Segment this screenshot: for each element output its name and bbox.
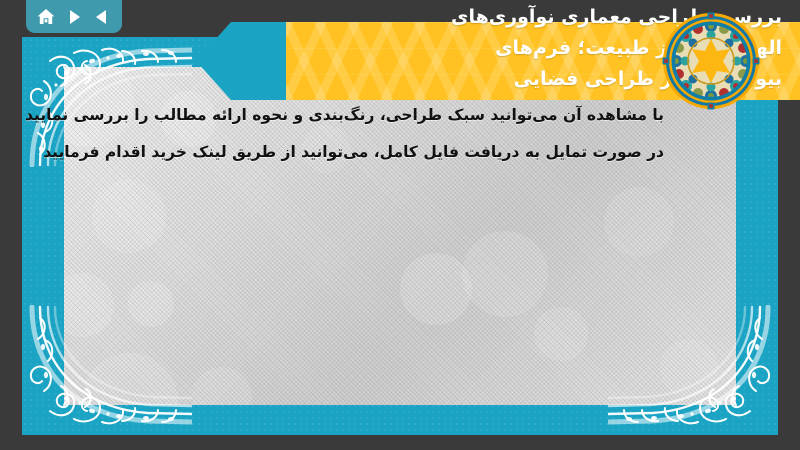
triangle-left-icon [93,8,111,26]
house-icon [36,7,56,27]
islamic-medallion-icon [661,11,761,111]
body-line: با مشاهده آن می‌توانید سبک طراحی، رنگ‌بن… [60,97,664,134]
navigation-bar [26,0,122,33]
slide-stage: این تصویر نمونه‌ای از اسلایدهای این پاور… [0,0,800,450]
back-button[interactable] [91,6,113,28]
home-button[interactable] [35,6,57,28]
triangle-right-icon [65,8,83,26]
forward-button[interactable] [63,6,85,28]
banner-arrow-tab [196,22,286,100]
body-line: در صورت تمایل به دریافت فایل کامل، می‌تو… [60,134,664,171]
